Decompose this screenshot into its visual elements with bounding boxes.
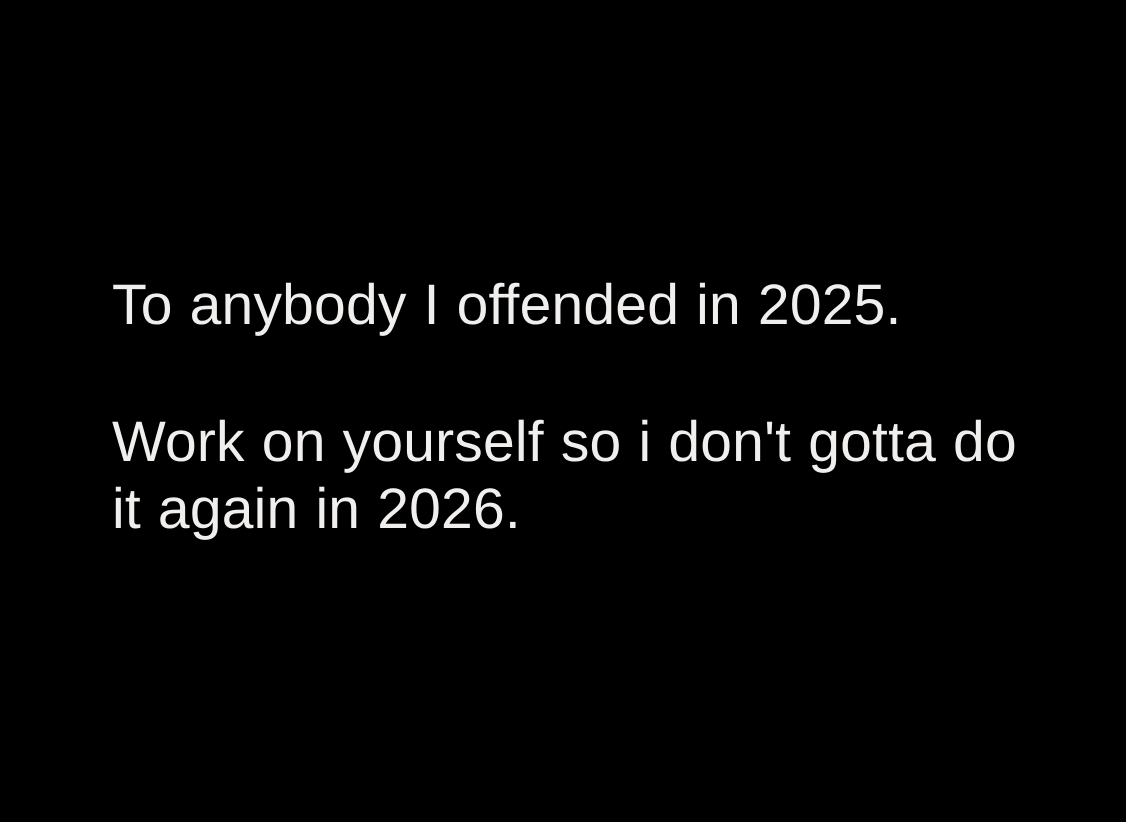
quote-paragraph-second: Work on yourself so i don't gotta do it …: [112, 409, 1032, 543]
quote-text-block: To anybody I offended in 2025. Work on y…: [112, 272, 1042, 543]
quote-card: To anybody I offended in 2025. Work on y…: [0, 0, 1126, 822]
quote-paragraph-first: To anybody I offended in 2025.: [112, 272, 1042, 339]
